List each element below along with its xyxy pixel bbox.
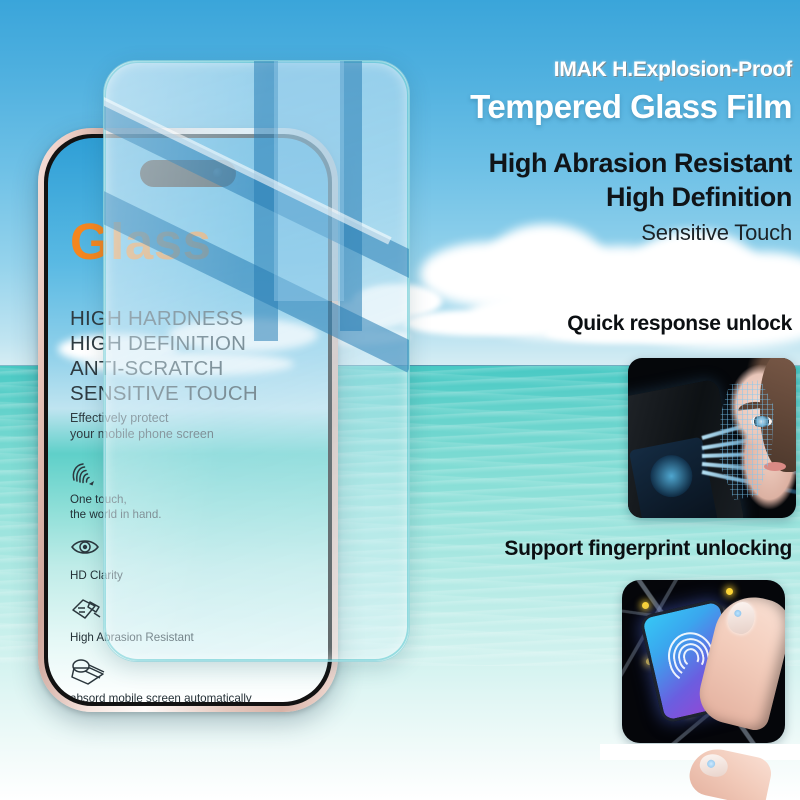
fingerprint-unlock-photo xyxy=(622,580,785,743)
face-unlock-photo xyxy=(628,358,796,518)
product-marketing-image: Glass HIGH HARDNESS HIGH DEFINITION ANTI… xyxy=(0,0,800,800)
bullet-item-absorb: absord mobile screen automatically xyxy=(70,659,325,702)
feature-headline-3: Sensitive Touch xyxy=(641,220,792,246)
product-title: Tempered Glass Film xyxy=(470,88,792,126)
feature-headline-1: High Abrasion Resistant xyxy=(489,148,792,179)
tempered-glass-sheet xyxy=(103,60,410,662)
section-heading-quick-response: Quick response unlock xyxy=(567,312,792,336)
feature-headline-2: High Definition xyxy=(606,182,792,213)
face-scan-icon xyxy=(647,451,696,500)
film-absorb-icon xyxy=(70,659,325,689)
circuit-dot xyxy=(642,602,649,609)
bullet-line-1: absord mobile screen automatically xyxy=(70,692,325,702)
bullet-text: absord mobile screen automatically xyxy=(70,692,325,702)
circuit-dot xyxy=(726,588,733,595)
section-heading-fingerprint: Support fingerprint unlocking xyxy=(504,537,792,561)
brand-line: IMAK H.Explosion-Proof xyxy=(554,58,792,82)
second-fingernail xyxy=(698,752,730,779)
fingernail xyxy=(725,599,758,636)
